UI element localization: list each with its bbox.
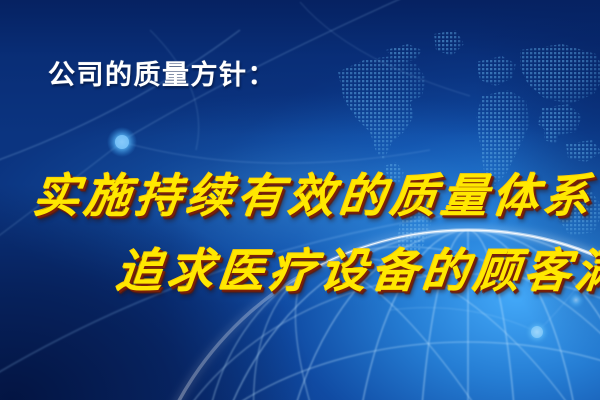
- policy-line-1: 实施持续有效的质量体系: [31, 160, 599, 226]
- quality-policy-banner: 公司的质量方针： 实施持续有效的质量体系 追求医疗设备的顾客满意: [0, 0, 600, 400]
- page-title: 公司的质量方针：: [48, 53, 276, 92]
- policy-line-2: 追求医疗设备的顾客满意: [114, 235, 600, 301]
